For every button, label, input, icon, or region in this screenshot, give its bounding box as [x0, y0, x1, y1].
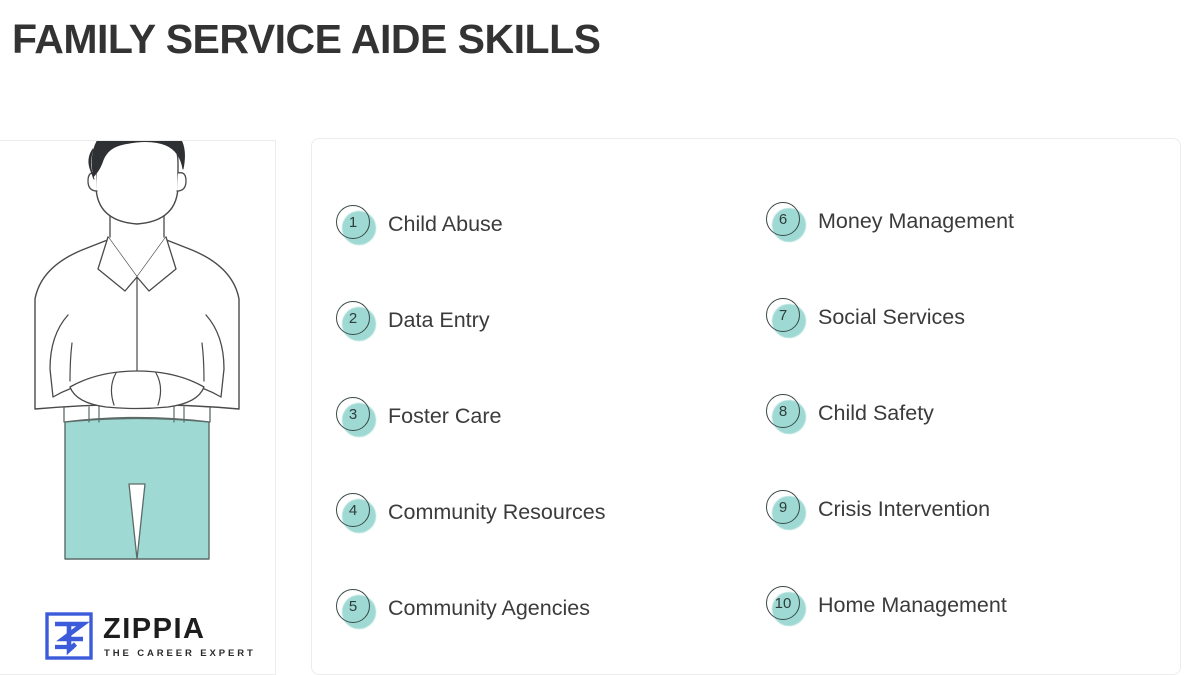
list-item[interactable]: 8 Child Safety — [764, 366, 1184, 462]
badge-number: 9 — [766, 490, 800, 524]
list-item[interactable]: 6 Money Management — [764, 174, 1184, 270]
badge-number: 1 — [336, 205, 370, 239]
list-item[interactable]: 7 Social Services — [764, 270, 1184, 366]
skill-number-badge: 4 — [334, 491, 378, 535]
skill-label: Child Safety — [818, 402, 934, 426]
skill-number-badge: 5 — [334, 587, 378, 631]
skill-number-badge: 2 — [334, 299, 378, 343]
badge-number: 10 — [766, 586, 800, 620]
badge-number: 3 — [336, 397, 370, 431]
list-item[interactable]: 3 Foster Care — [334, 369, 754, 465]
skills-column-right: 6 Money Management 7 Social Services 8 C… — [764, 174, 1184, 654]
skill-label: Crisis Intervention — [818, 498, 990, 522]
zippia-z-mark-icon — [44, 611, 94, 661]
list-item[interactable]: 4 Community Resources — [334, 465, 754, 561]
list-item[interactable]: 9 Crisis Intervention — [764, 462, 1184, 558]
skill-number-badge: 8 — [764, 392, 808, 436]
badge-number: 4 — [336, 493, 370, 527]
skill-label: Community Agencies — [388, 597, 590, 621]
zippia-tagline: THE CAREER EXPERT — [104, 649, 256, 659]
badge-number: 2 — [336, 301, 370, 335]
skills-column-left: 1 Child Abuse 2 Data Entry 3 Foster Care — [334, 177, 754, 657]
badge-number: 7 — [766, 298, 800, 332]
skill-number-badge: 1 — [334, 203, 378, 247]
list-item[interactable]: 5 Community Agencies — [334, 561, 754, 657]
badge-number: 6 — [766, 202, 800, 236]
badge-number: 5 — [336, 589, 370, 623]
skill-label: Community Resources — [388, 501, 605, 525]
skill-label: Social Services — [818, 306, 965, 330]
skill-number-badge: 9 — [764, 488, 808, 532]
zippia-logo[interactable]: ZIPPIA THE CAREER EXPERT — [44, 611, 256, 661]
illustration-panel — [0, 140, 276, 675]
list-item[interactable]: 1 Child Abuse — [334, 177, 754, 273]
skill-number-badge: 10 — [764, 584, 808, 628]
skill-label: Data Entry — [388, 309, 490, 333]
skill-number-badge: 3 — [334, 395, 378, 439]
skill-label: Money Management — [818, 210, 1014, 234]
skill-number-badge: 7 — [764, 296, 808, 340]
person-arms-crossed-illustration — [0, 140, 276, 639]
skill-label: Foster Care — [388, 405, 502, 429]
badge-number: 8 — [766, 394, 800, 428]
page-title: FAMILY SERVICE AIDE SKILLS — [12, 16, 600, 63]
list-item[interactable]: 10 Home Management — [764, 558, 1184, 654]
zippia-wordmark: ZIPPIA — [103, 615, 256, 644]
list-item[interactable]: 2 Data Entry — [334, 273, 754, 369]
skill-label: Home Management — [818, 594, 1007, 618]
skill-number-badge: 6 — [764, 200, 808, 244]
skill-label: Child Abuse — [388, 213, 503, 237]
skills-panel: 1 Child Abuse 2 Data Entry 3 Foster Care — [311, 138, 1181, 675]
